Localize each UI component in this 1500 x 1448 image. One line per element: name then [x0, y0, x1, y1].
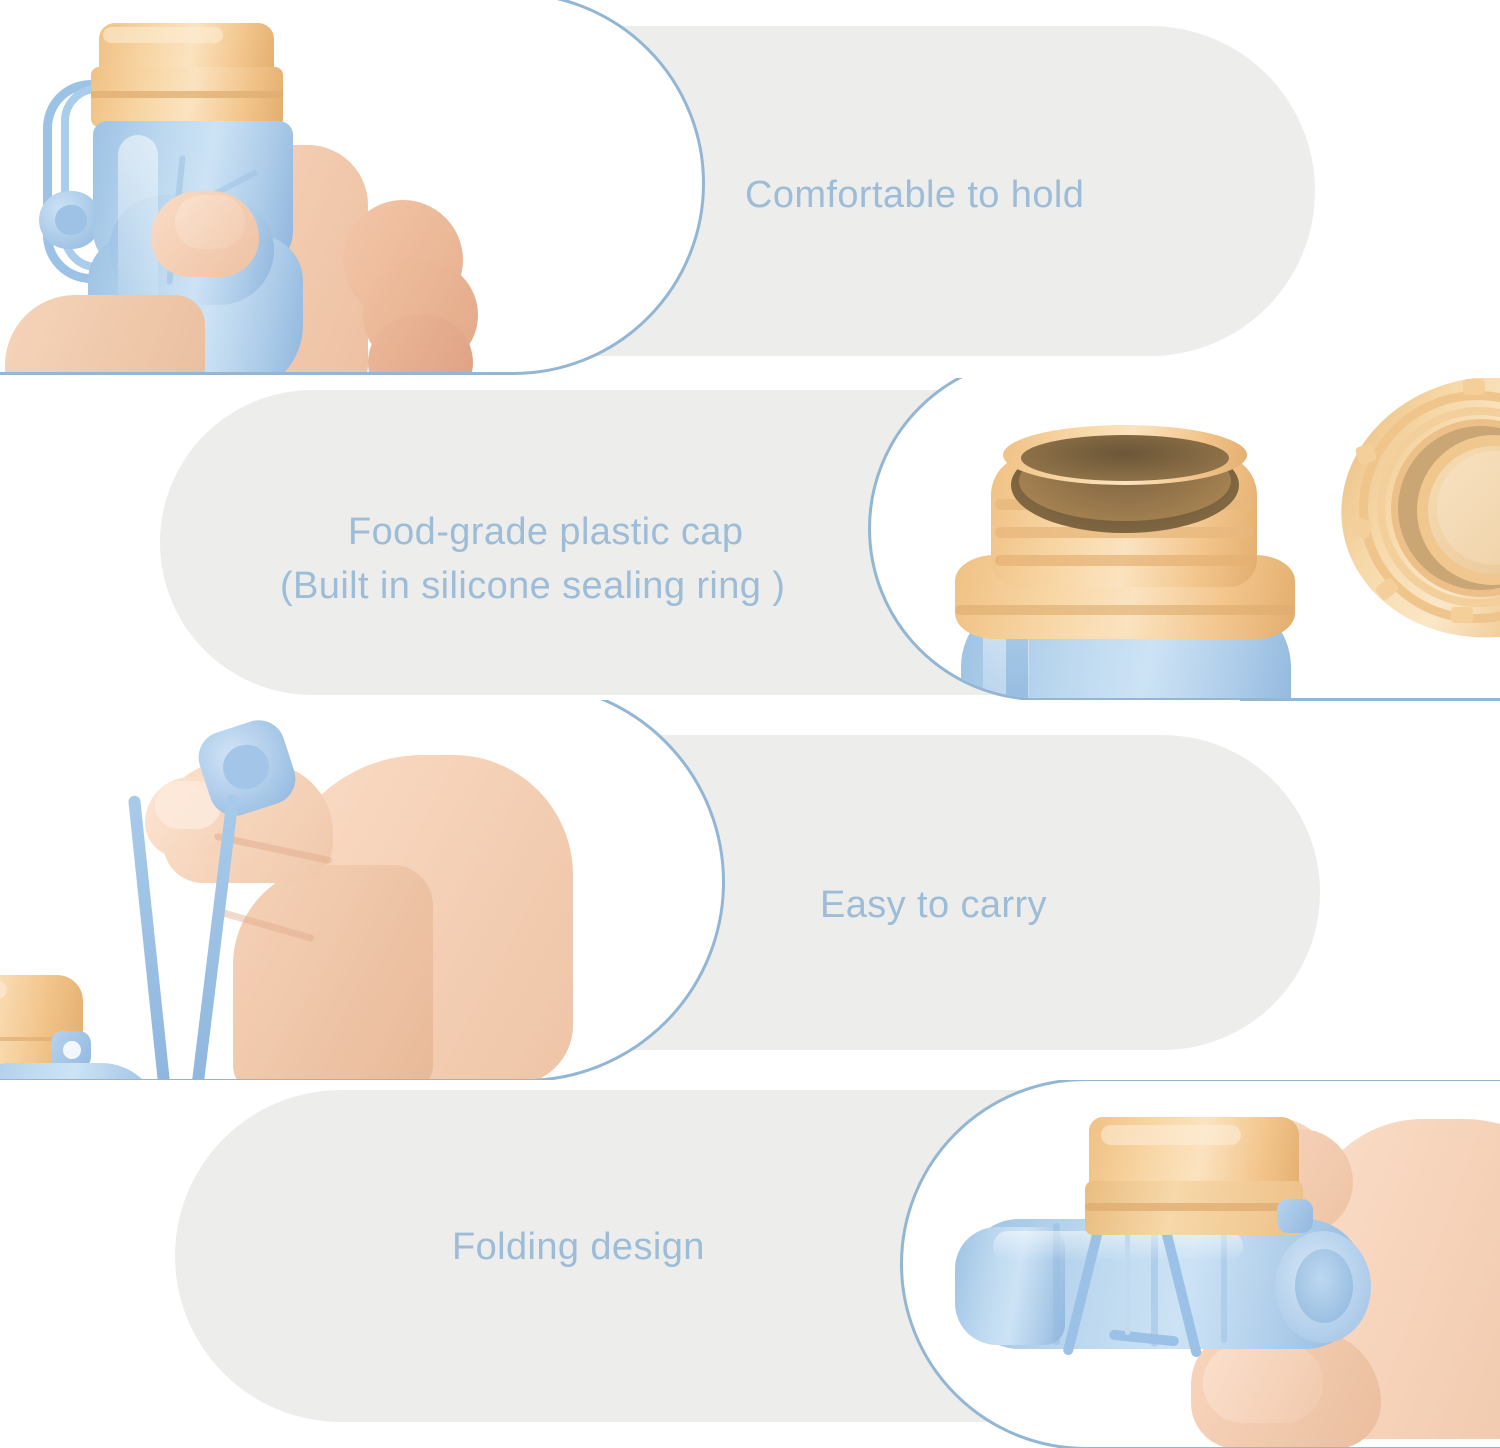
feature-row-easy-to-carry: [0, 700, 1500, 1080]
feature-row-food-grade-plastic-cap: [0, 378, 1500, 700]
feature-caption-food-grade-plastic-cap-line2: (Built in silicone sealing ring ): [280, 562, 785, 611]
divider-rule: [1240, 700, 1500, 701]
feature-image-folding-design: [900, 1080, 1500, 1448]
feature-image-food-grade-plastic-cap: [868, 378, 1500, 700]
feature-row-folding-design: [0, 1080, 1500, 1448]
feature-image-easy-to-carry: [0, 700, 725, 1080]
feature-caption-food-grade-plastic-cap-line1: Food-grade plastic cap: [348, 508, 743, 557]
feature-caption-easy-to-carry: Easy to carry: [820, 880, 1047, 931]
feature-caption-comfortable-to-hold: Comfortable to hold: [745, 170, 1084, 221]
feature-caption-folding-design: Folding design: [452, 1222, 705, 1273]
feature-infographic: Comfortable to hold Food-grade plastic c…: [0, 0, 1500, 1448]
feature-image-comfortable-to-hold: [0, 0, 705, 375]
